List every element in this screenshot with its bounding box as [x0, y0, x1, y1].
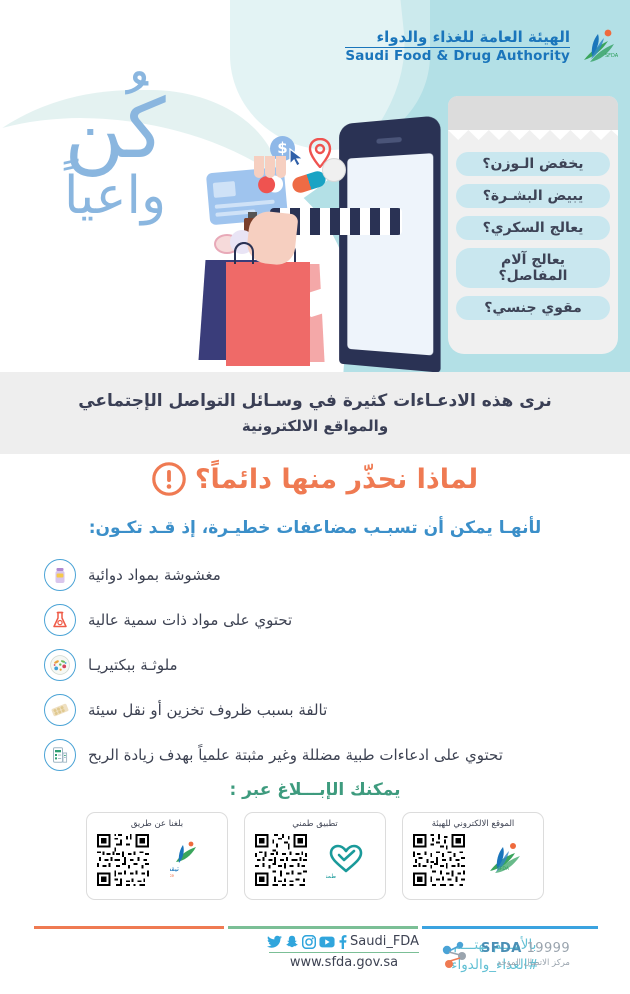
social-icon-row: Saudi_FDA	[254, 934, 434, 949]
sfda-logo: الهيئة العامة للغذاء والدواء Saudi Food …	[345, 26, 618, 68]
report-card-label: بلغنا عن طريق	[95, 819, 219, 829]
hero-illustration: $	[186, 112, 436, 370]
claims-list: يخفض الـوزن؟ يبيض البشـرة؟ يعالج السكري؟…	[456, 152, 610, 328]
list-item-label: تحتوي على ادعاءات طبية مضللة وغير مثبتة …	[88, 746, 503, 764]
logo-text: الهيئة العامة للغذاء والدواء Saudi Food …	[345, 29, 570, 65]
claim-bubble: يخفض الـوزن؟	[456, 152, 610, 176]
qr-code-icon[interactable]	[411, 832, 467, 888]
headline-line-2: واعياً	[35, 173, 195, 221]
qr-code-icon[interactable]	[253, 832, 309, 888]
bag-handle	[234, 242, 254, 264]
tamanni-heart-logo-icon: طمني	[315, 840, 377, 880]
why-subtitle: لأنهـا يمكن أن تسبـب مضاعفات خطيـرة، إذ …	[0, 518, 630, 538]
sfda-logo-icon: SFDA	[473, 841, 535, 879]
instagram-icon[interactable]	[302, 935, 316, 949]
hero-headline: كُن واعياً	[35, 92, 195, 221]
toxic-flask-icon	[44, 604, 76, 636]
report-card-label: الموقع الالكتروني للهيئة	[411, 819, 535, 829]
context-banner: نرى هذه الادعـاءات كثيرة في وسـائل التوا…	[0, 372, 630, 454]
youtube-icon[interactable]	[319, 935, 335, 949]
cursor-pointer-icon	[288, 148, 306, 168]
bacteria-dish-icon	[44, 649, 76, 681]
smartphone-icon	[339, 115, 440, 372]
social-handle: Saudi_FDA	[350, 934, 419, 949]
list-item: ملوثـة ببكتيريـا	[44, 642, 584, 687]
call-center-brand-line: SFDA 19999	[481, 941, 570, 958]
snapchat-icon[interactable]	[285, 935, 299, 949]
list-item: مغشوشة بمواد دوائية	[44, 552, 584, 597]
card-line	[215, 200, 275, 209]
list-item: تحتوي على مواد ذات سمية عالية	[44, 597, 584, 642]
logo-arabic-name: الهيئة العامة للغذاء والدواء	[345, 29, 570, 48]
svg-text:Saudi Vigilance: Saudi Vigilance	[170, 873, 175, 878]
finger	[276, 156, 286, 178]
tablet-pill-icon	[322, 158, 346, 182]
svg-text:SFDA: SFDA	[497, 866, 510, 872]
call-center-brand: SFDA	[481, 941, 522, 956]
report-card-label: تطبيق طمني	[253, 819, 377, 829]
report-document-icon	[44, 739, 76, 771]
headline-line-1: كُن	[35, 92, 195, 167]
call-center-text: SFDA 19999 مركز الاتصال الموحد	[481, 941, 570, 969]
report-channel-cards: بلغنا عن طريق	[0, 812, 630, 900]
footer-social: Saudi_FDA www.sfda.gov.sa	[254, 934, 434, 970]
note-torn-edge	[448, 130, 618, 140]
finger	[254, 156, 264, 178]
list-item-label: مغشوشة بمواد دوائية	[88, 566, 221, 584]
tayaqaz-vigilance-logo-icon: تيقظ Saudi Vigilance	[157, 840, 219, 880]
claim-bubble: يعالج آلام المفاصل؟	[456, 248, 610, 288]
sfda-logo-icon: SFDA	[578, 26, 618, 68]
claim-bubble: يعالج السكري؟	[456, 216, 610, 240]
contact-center-icon	[440, 940, 474, 970]
footer-call-center: SFDA 19999 مركز الاتصال الموحد	[440, 940, 600, 970]
why-title: لماذا نحذّر منها دائماً؟	[195, 464, 478, 495]
exclamation-circle-icon	[152, 462, 186, 496]
website-url[interactable]: www.sfda.gov.sa	[254, 955, 434, 970]
list-item-label: تحتوي على مواد ذات سمية عالية	[88, 611, 292, 629]
claim-bubble: مقوي جنسي؟	[456, 296, 610, 320]
note-top-edge	[448, 96, 618, 130]
banner-line-2: والمواقع الالكترونية	[242, 417, 388, 435]
list-item: تحتوي على ادعاءات طبية مضللة وغير مثبتة …	[44, 732, 584, 777]
report-card-vigilance[interactable]: بلغنا عن طريق	[86, 812, 228, 900]
social-underline	[269, 952, 419, 953]
reasons-list: مغشوشة بمواد دوائية تحتوي على مواد ذات س…	[44, 552, 584, 777]
list-item-label: تالفة بسبب ظروف تخزين أو نقل سيئة	[88, 701, 327, 719]
footer-divider-blue	[422, 926, 598, 929]
list-item-label: ملوثـة ببكتيريـا	[88, 656, 178, 674]
why-heading-row: لماذا نحذّر منها دائماً؟	[0, 462, 630, 496]
svg-text:طمني: طمني	[326, 873, 336, 880]
list-item: تالفة بسبب ظروف تخزين أو نقل سيئة	[44, 687, 584, 732]
phone-speaker	[376, 137, 401, 144]
qr-code-icon[interactable]	[95, 832, 151, 888]
twitter-icon[interactable]	[267, 935, 282, 949]
svg-text:تيقظ: تيقظ	[170, 865, 179, 873]
claim-bubble: يبيض البشـرة؟	[456, 184, 610, 208]
phone-screen	[347, 153, 433, 355]
infographic-page: الهيئة العامة للغذاء والدواء Saudi Food …	[0, 0, 630, 994]
report-card-sfda-website[interactable]: الموقع الالكتروني للهيئة	[402, 812, 544, 900]
shopping-bag-red	[226, 262, 310, 366]
svg-text:SFDA: SFDA	[605, 53, 618, 59]
pill-blister-icon	[44, 694, 76, 726]
card-chip	[213, 181, 236, 198]
footer-divider-orange	[34, 926, 224, 929]
footer-divider-green	[228, 926, 418, 929]
report-card-tamanni-app[interactable]: تطبيق طمني	[244, 812, 386, 900]
cream-tube-icon	[44, 559, 76, 591]
report-section-title: يمكنك الإبـــلاغ عبر :	[0, 780, 630, 800]
facebook-icon[interactable]	[338, 935, 347, 949]
hero-section: الهيئة العامة للغذاء والدواء Saudi Food …	[0, 0, 630, 372]
banner-line-1: نرى هذه الادعـاءات كثيرة في وسـائل التوا…	[78, 391, 552, 411]
logo-english-name: Saudi Food & Drug Authority	[345, 49, 570, 65]
call-center-number: 19999	[527, 941, 570, 956]
call-center-label: مركز الاتصال الموحد	[481, 958, 570, 969]
finger	[265, 156, 275, 178]
